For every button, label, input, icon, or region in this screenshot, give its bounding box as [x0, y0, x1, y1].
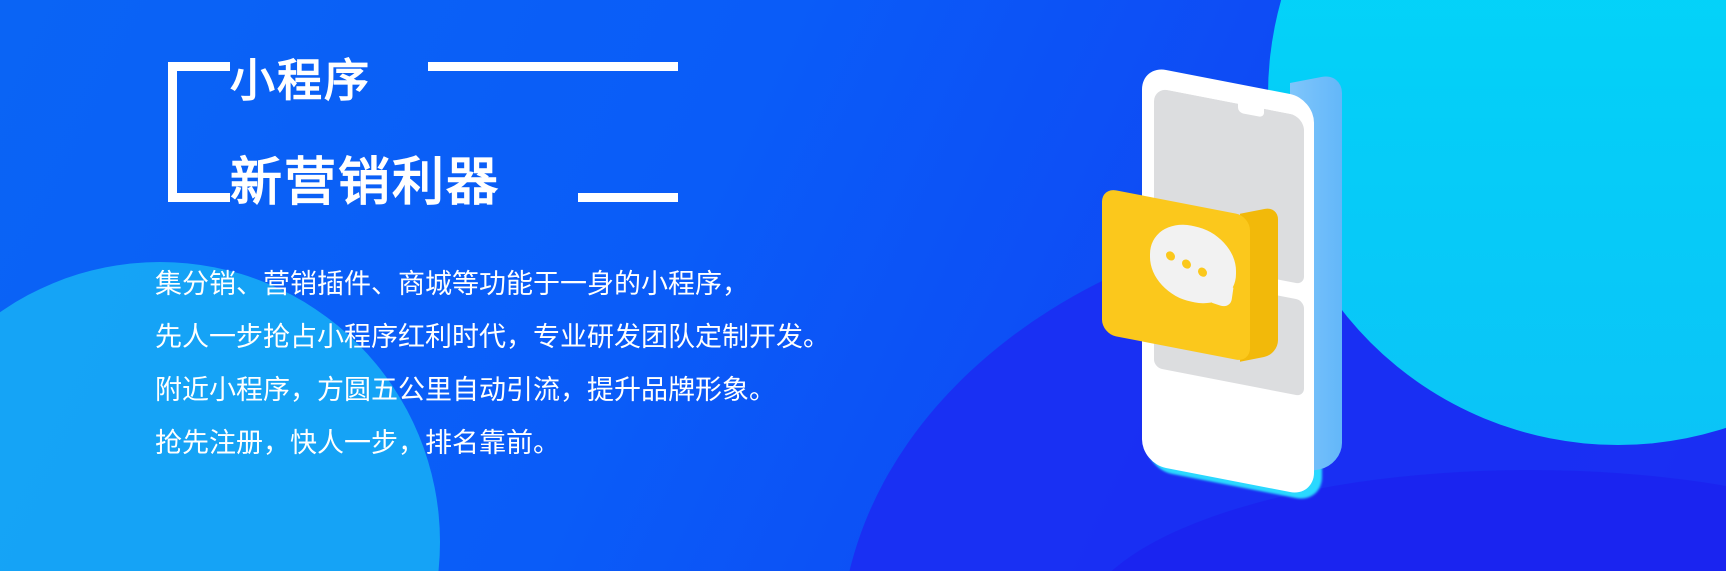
headline-line-1: 小程序 [230, 55, 371, 107]
description-line-1: 集分销、营销插件、商城等功能于一身的小程序， [155, 258, 975, 311]
bracket-left-edge [168, 62, 177, 202]
description-line-4: 抢先注册，快人一步，排名靠前。 [155, 417, 975, 470]
chat-dot [1198, 267, 1207, 278]
bracket-top-arm [168, 62, 230, 71]
banner-description: 集分销、营销插件、商城等功能于一身的小程序， 先人一步抢占小程序红利时代，专业研… [155, 258, 975, 470]
headline-rule-top [428, 62, 678, 71]
description-line-2: 先人一步抢占小程序红利时代，专业研发团队定制开发。 [155, 311, 975, 364]
chat-dot [1182, 259, 1191, 270]
headline-rule-bottom [578, 193, 678, 202]
smartphone-illustration [1120, 60, 1480, 530]
bracket-bottom-arm [168, 193, 230, 202]
headline-line-2: 新营销利器 [230, 154, 500, 212]
promo-banner: 小程序 新营销利器 集分销、营销插件、商城等功能于一身的小程序， 先人一步抢占小… [0, 0, 1726, 571]
description-line-3: 附近小程序，方圆五公里自动引流，提升品牌形象。 [155, 364, 975, 417]
chat-dot [1166, 251, 1175, 262]
banner-content: 小程序 新营销利器 集分销、营销插件、商城等功能于一身的小程序， 先人一步抢占小… [0, 0, 1726, 571]
headline-bracket-frame: 小程序 新营销利器 [168, 62, 678, 202]
